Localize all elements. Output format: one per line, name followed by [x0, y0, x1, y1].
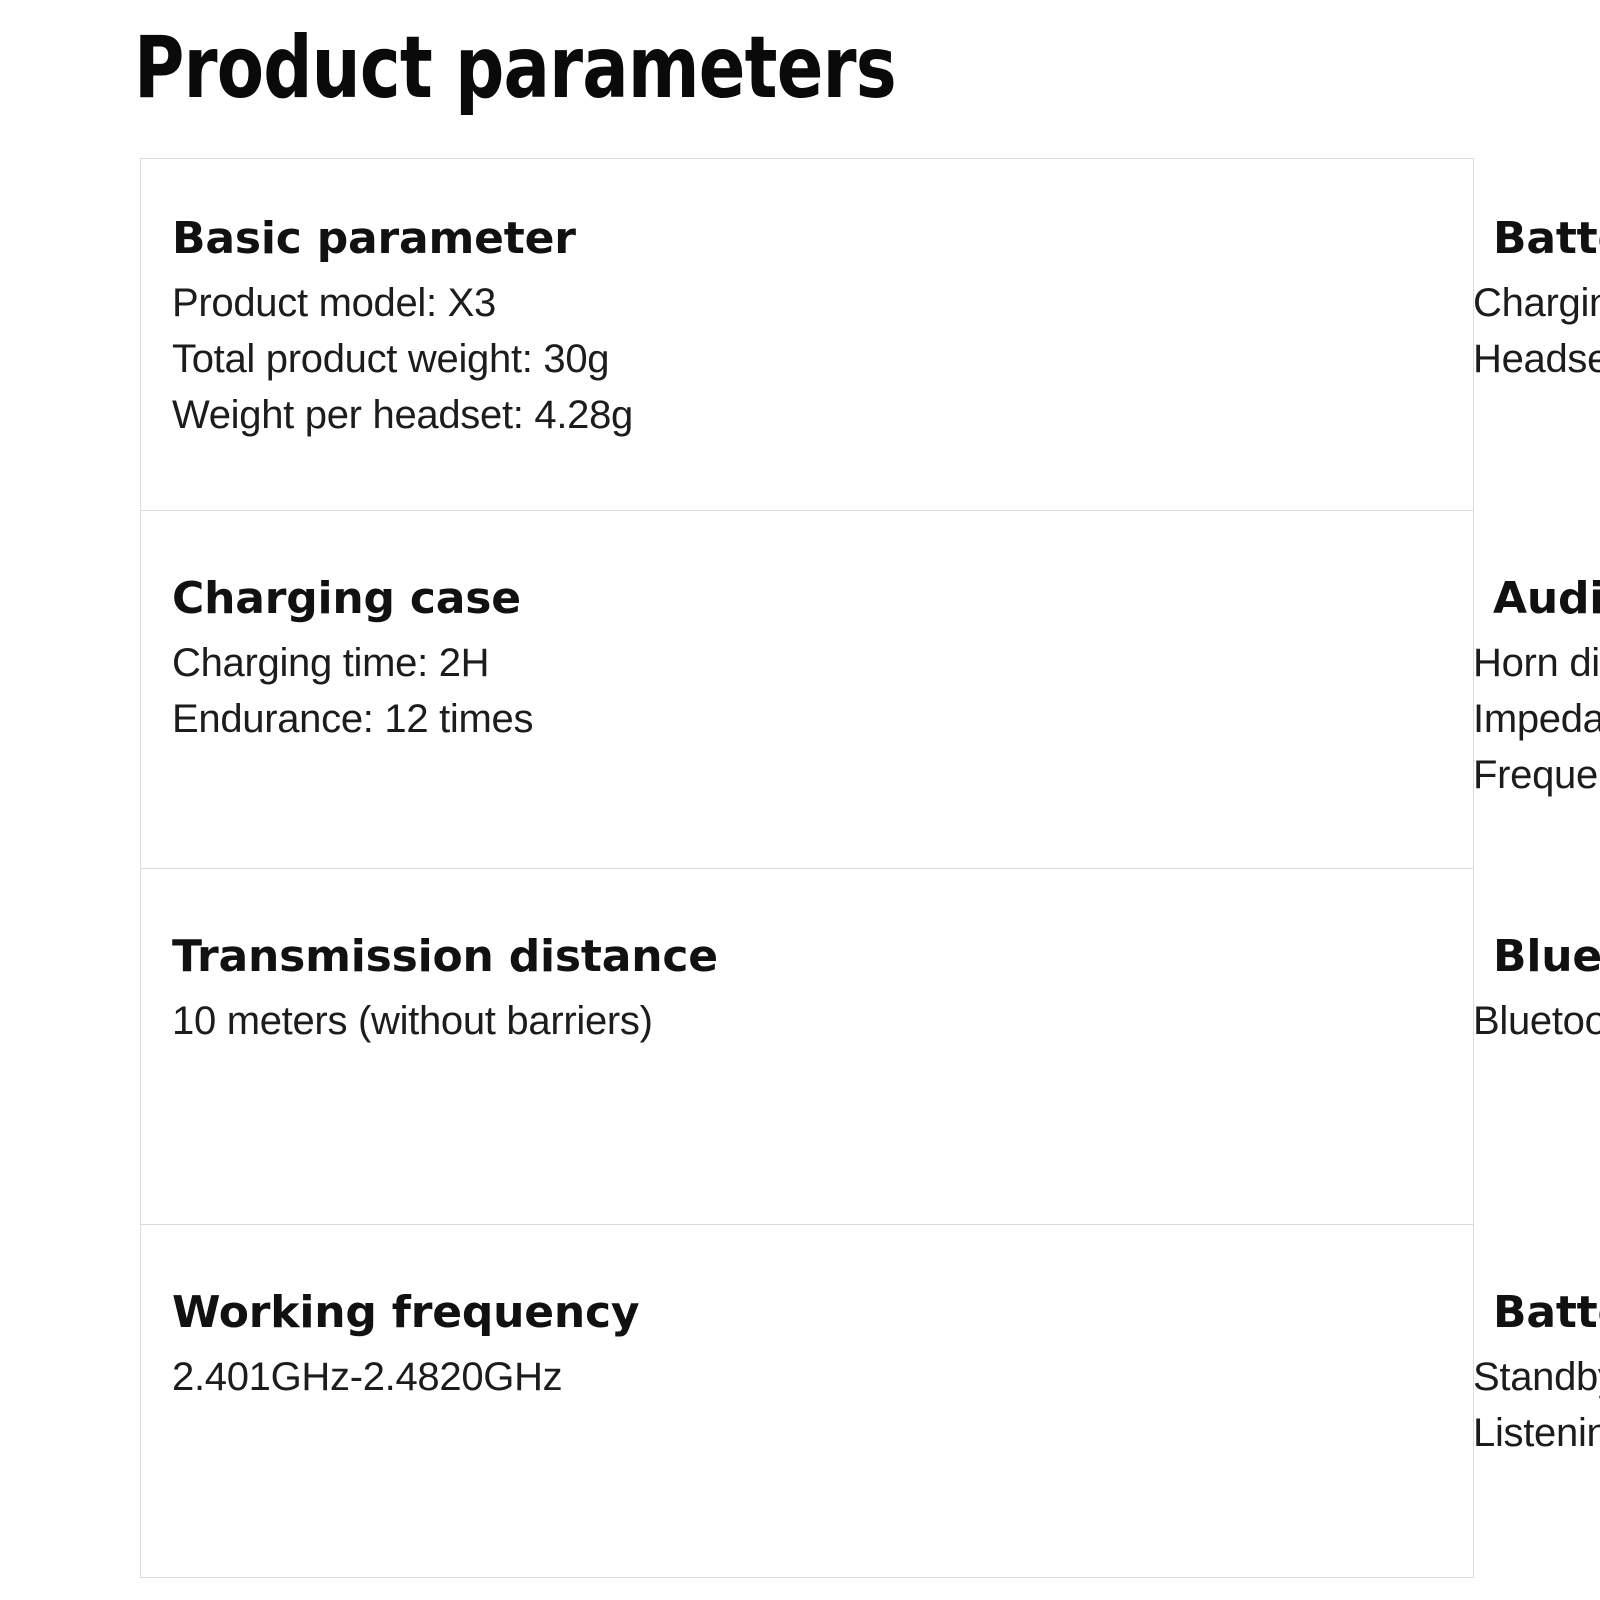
spec-line: Weight per headset: 4.28g [172, 387, 799, 443]
spec-line: 2.401GHz-2.4820GHz [172, 1349, 799, 1405]
spec-cell-basic-parameter: Basic parameter Product model: X3 Total … [141, 159, 799, 510]
spec-line-list: 2.401GHz-2.4820GHz [172, 1349, 799, 1405]
spec-cell-battery-life: Battery life Standby time: ~300h Listeni… [799, 1225, 1473, 1577]
spec-heading: Charging case [172, 569, 799, 629]
table-row: Basic parameter Product model: X3 Total … [141, 159, 1473, 511]
spec-table: Basic parameter Product model: X3 Total … [140, 158, 1474, 1578]
page-title: Product parameters [134, 20, 896, 116]
spec-line: Endurance: 12 times [172, 691, 799, 747]
spec-heading: Audio parameter [1473, 569, 1493, 629]
spec-heading: Battery life [1473, 1283, 1493, 1343]
spec-cell-transmission-distance: Transmission distance 10 meters (without… [141, 869, 799, 1224]
spec-line-list: Product model: X3 Total product weight: … [172, 275, 799, 443]
spec-line: Total product weight: 30g [172, 331, 799, 387]
spec-cell-battery-capacity: Battery capacity Charging case capacity:… [799, 159, 1473, 510]
spec-cell-bluetooth-version: Bluetooth version Bluetooth 5.1 [799, 869, 1473, 1224]
spec-cell-charging-case: Charging case Charging time: 2H Enduranc… [141, 511, 799, 868]
spec-heading: Working frequency [172, 1283, 799, 1343]
spec-heading: Battery capacity [1473, 209, 1493, 269]
spec-heading: Transmission distance [172, 927, 799, 987]
spec-line-list: Charging time: 2H Endurance: 12 times [172, 635, 799, 747]
spec-cell-audio-parameter: Audio parameter Horn diameter: Φ10.6mm I… [799, 511, 1473, 868]
product-parameters-page: Product parameters Basic parameter Produ… [0, 0, 1600, 1600]
spec-heading: Basic parameter [172, 209, 799, 269]
spec-line: 10 meters (without barriers) [172, 993, 799, 1049]
spec-line: Charging time: 2H [172, 635, 799, 691]
spec-cell-working-frequency: Working frequency 2.401GHz-2.4820GHz [141, 1225, 799, 1577]
spec-heading: Bluetooth version [1473, 927, 1493, 987]
spec-line: Product model: X3 [172, 275, 799, 331]
table-row: Charging case Charging time: 2H Enduranc… [141, 511, 1473, 869]
spec-line-list: 10 meters (without barriers) [172, 993, 799, 1049]
table-row: Working frequency 2.401GHz-2.4820GHz Bat… [141, 1225, 1473, 1577]
table-row: Transmission distance 10 meters (without… [141, 869, 1473, 1225]
